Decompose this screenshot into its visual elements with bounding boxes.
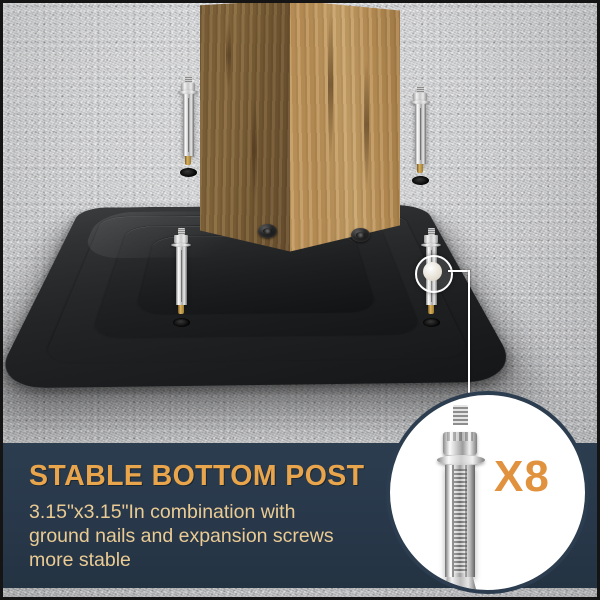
callout-leader-vertical: [468, 270, 470, 394]
expansion-screw-top-right: [409, 86, 431, 185]
callout-quantity-label: X8: [494, 452, 550, 502]
banner-subtitle: 3.15"x3.15"In combination with ground na…: [29, 500, 359, 572]
banner-title: STABLE BOTTOM POST: [29, 460, 364, 493]
post-bolt-left: [258, 224, 277, 238]
product-image-card: STABLE BOTTOM POST 3.15"x3.15"In combina…: [0, 0, 600, 600]
screw-highlight-ring: [415, 255, 453, 293]
wooden-post: [200, 0, 400, 262]
callout-leader-horizontal: [448, 270, 470, 272]
post-bolt-right: [351, 228, 370, 242]
part-callout-circle: X8: [386, 391, 589, 594]
callout-expansion-screw-icon: [437, 405, 483, 593]
expansion-screw-bottom-left: [170, 228, 192, 327]
post-face-right: [290, 0, 400, 262]
expansion-screw-top-left: [177, 76, 199, 177]
post-face-left: [200, 0, 290, 262]
